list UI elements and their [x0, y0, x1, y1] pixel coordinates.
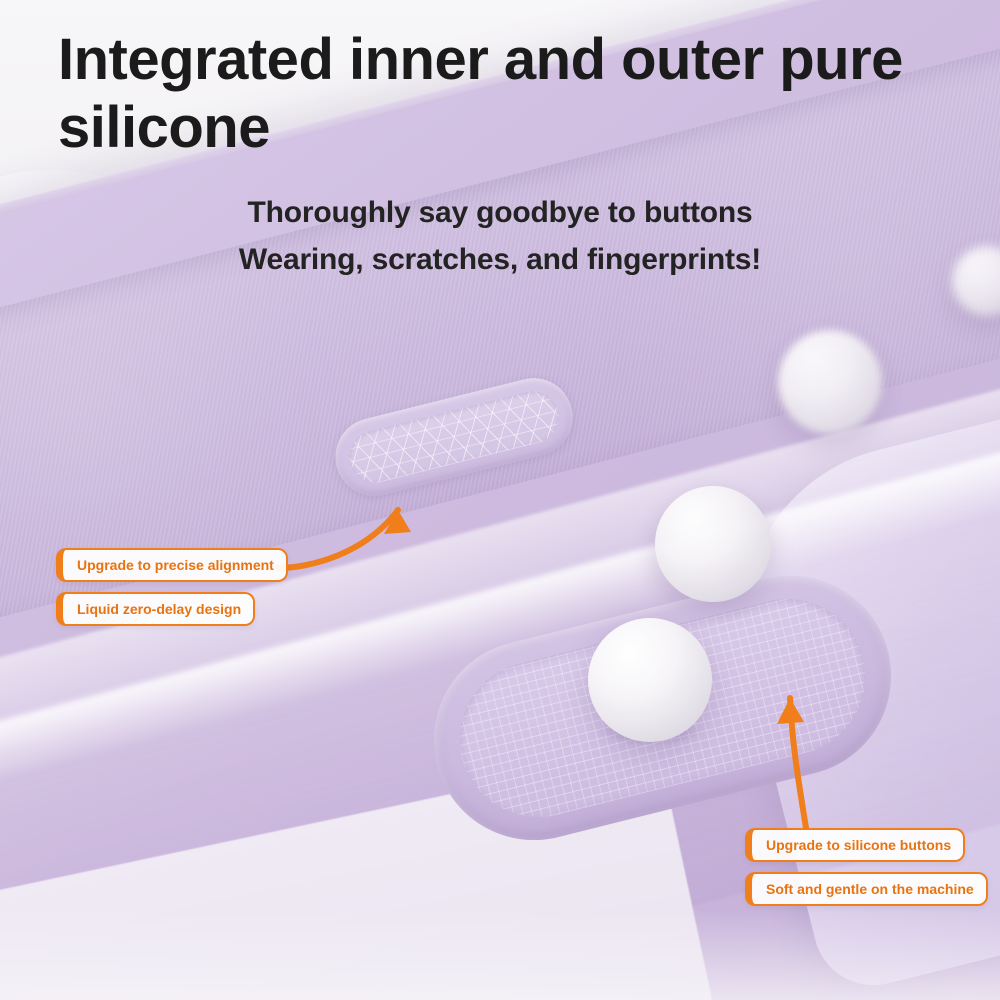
subheadline-block: Thoroughly say goodbye to buttons Wearin… [0, 190, 1000, 283]
subheadline-line-1: Thoroughly say goodbye to buttons [0, 190, 1000, 237]
callout-right-2: Soft and gentle on the machine [745, 872, 988, 906]
white-ball-blurred [778, 330, 882, 434]
bottom-fade-overlay [0, 910, 1000, 1000]
callout-right-1: Upgrade to silicone buttons [745, 828, 965, 862]
subheadline-line-2: Wearing, scratches, and fingerprints! [0, 237, 1000, 284]
white-ball [655, 486, 771, 602]
callout-left-1: Upgrade to precise alignment [56, 548, 288, 582]
product-promo-image: Integrated inner and outer pure silicone… [0, 0, 1000, 1000]
headline-text: Integrated inner and outer pure silicone [58, 26, 958, 163]
white-ball [588, 618, 712, 742]
callout-left-2: Liquid zero-delay design [56, 592, 255, 626]
